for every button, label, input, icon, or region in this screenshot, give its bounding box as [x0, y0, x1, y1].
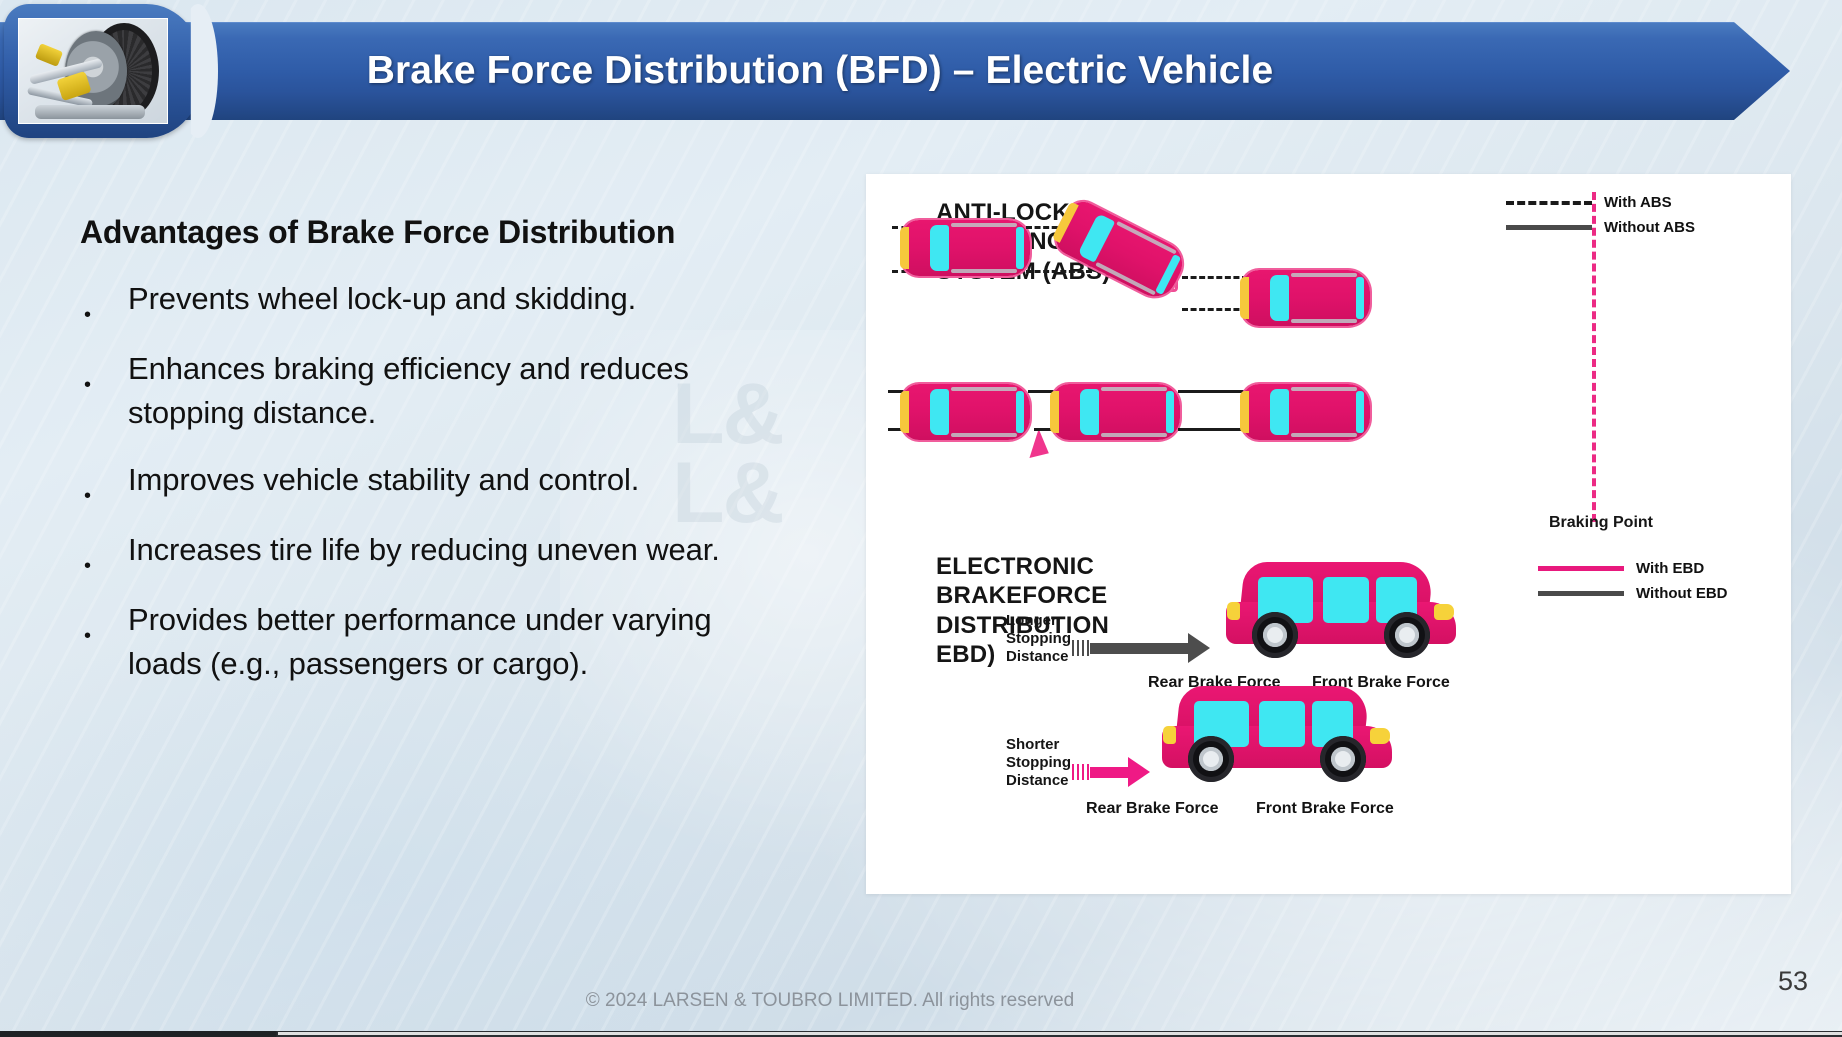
car-nose — [900, 391, 909, 434]
list-item-label: Increases tire life by reducing uneven w… — [128, 528, 720, 576]
car-roof-line — [1101, 433, 1168, 437]
legend-item: With EBD — [1538, 556, 1728, 581]
distance-line-3: Distance — [1006, 648, 1071, 666]
car-roof-line — [951, 223, 1018, 227]
abs-trace-solid — [1178, 428, 1246, 431]
car-windshield — [1270, 389, 1289, 435]
legend-item: Without EBD — [1538, 581, 1728, 606]
car-windshield — [930, 389, 949, 435]
distance-line-1: Shorter — [1006, 736, 1071, 754]
car-roof-line — [1101, 387, 1168, 391]
braking-point-label: Braking Point — [1506, 514, 1696, 532]
car-windshield — [930, 225, 949, 271]
car-body — [902, 384, 1030, 440]
car-with-abs-2 — [1050, 196, 1189, 304]
car-without-abs-3 — [1242, 384, 1370, 440]
brake-caliper-upper-icon — [35, 43, 63, 67]
car-rear-window — [1016, 227, 1024, 268]
copyright-footer: © 2024 LARSEN & TOUBRO LIMITED. All righ… — [0, 990, 1660, 1012]
car-roof-line — [1291, 433, 1358, 437]
arrow-shaft — [1090, 767, 1128, 778]
hub-base-icon — [35, 105, 145, 119]
bullet-dot-icon: • — [80, 347, 128, 436]
advantages-heading: Advantages of Brake Force Distribution — [80, 214, 780, 251]
arrow-hatch — [1072, 640, 1090, 656]
car-with-abs-1 — [902, 220, 1030, 276]
distance-line-2: Stopping — [1006, 754, 1071, 772]
slide-title-banner: Brake Force Distribution (BFD) – Electri… — [0, 22, 1790, 120]
car-body — [1052, 384, 1180, 440]
list-item-label: Prevents wheel lock-up and skidding. — [128, 277, 636, 325]
abs-trace-dashed — [1182, 276, 1248, 279]
bullet-dot-icon: • — [80, 598, 128, 687]
abs-trace-dashed — [1026, 270, 1092, 273]
arrow-hatch — [1072, 764, 1090, 780]
van-without-ebd — [1226, 562, 1456, 658]
van-rear-wheel — [1252, 612, 1298, 658]
arrow-head — [1188, 633, 1210, 663]
arrow-shaft — [1090, 643, 1188, 654]
longer-distance-arrow-icon — [1072, 640, 1210, 656]
shorter-stopping-distance-label: Shorter Stopping Distance — [1006, 736, 1071, 790]
car-roof-line — [1291, 273, 1358, 277]
van-mid-window — [1323, 577, 1369, 623]
van-taillight — [1227, 602, 1240, 620]
ebd-title-line-1: ELECTRONIC — [936, 552, 1109, 581]
longer-stopping-distance-label: Longer Stopping Distance — [1006, 612, 1071, 666]
bullet-dot-icon: • — [80, 277, 128, 325]
legend-item-label: With ABS — [1604, 194, 1672, 211]
car-without-abs-1 — [902, 384, 1030, 440]
ebd-title-line-2: BRAKEFORCE — [936, 581, 1109, 610]
skid-mark-icon — [1023, 428, 1049, 458]
car-rear-window — [1016, 391, 1024, 432]
footer-rule-highlight — [278, 1032, 1842, 1035]
car-roof-line — [1291, 387, 1358, 391]
van-with-ebd — [1162, 686, 1392, 782]
page-title: Brake Force Distribution (BFD) – Electri… — [0, 22, 1640, 120]
abs-legend: With ABS Without ABS — [1506, 190, 1695, 240]
car-body — [1242, 384, 1370, 440]
brake-assembly-photo — [18, 18, 168, 124]
list-item: • Increases tire life by reducing uneven… — [80, 528, 780, 576]
distance-line-1: Longer — [1006, 612, 1071, 630]
abs-trace-solid — [1178, 390, 1246, 393]
shorter-distance-arrow-icon — [1072, 764, 1150, 780]
front-brake-force-label: Front Brake Force — [1256, 800, 1394, 818]
van-front-wheel — [1384, 612, 1430, 658]
brake-systems-diagram: ANTI-LOCK BREAKING SYSTEM (ABS) With ABS… — [866, 174, 1791, 894]
pink-line-swatch — [1538, 566, 1624, 571]
car-nose — [1050, 391, 1059, 434]
car-nose — [900, 227, 909, 270]
van-mid-window — [1259, 701, 1305, 747]
page-number: 53 — [1778, 966, 1808, 997]
distance-line-3: Distance — [1006, 772, 1071, 790]
list-item-label: Provides better performance under varyin… — [128, 598, 780, 687]
abs-trace-dashed — [1182, 308, 1248, 311]
legend-item: Without ABS — [1506, 215, 1695, 240]
car-rear-window — [1356, 391, 1364, 432]
car-roof-line — [951, 433, 1018, 437]
car-body — [902, 220, 1030, 276]
solid-line-swatch — [1506, 225, 1592, 230]
arrow-head — [1128, 757, 1150, 787]
list-item-label: Improves vehicle stability and control. — [128, 458, 639, 506]
rear-brake-force-label: Rear Brake Force — [1086, 800, 1219, 818]
bullet-dot-icon: • — [80, 458, 128, 506]
legend-item-label: With EBD — [1636, 560, 1704, 577]
car-windshield — [1270, 275, 1289, 321]
car-with-abs-3 — [1242, 270, 1370, 326]
car-rear-window — [1356, 277, 1364, 318]
car-rear-window — [1166, 391, 1174, 432]
van-rear-wheel — [1188, 736, 1234, 782]
van-taillight — [1163, 726, 1176, 744]
car-nose — [1240, 277, 1249, 320]
car-roof-line — [951, 387, 1018, 391]
list-item: • Enhances braking efficiency and reduce… — [80, 347, 780, 436]
dashed-line-swatch — [1506, 201, 1592, 205]
van-front-wheel — [1320, 736, 1366, 782]
banner-badge — [4, 4, 204, 138]
braking-point-line — [1592, 192, 1596, 522]
legend-item-label: Without ABS — [1604, 219, 1695, 236]
list-item: • Prevents wheel lock-up and skidding. — [80, 277, 780, 325]
distance-line-2: Stopping — [1006, 630, 1071, 648]
solid-line-swatch — [1538, 591, 1624, 596]
bullet-dot-icon: • — [80, 528, 128, 576]
car-nose — [1240, 391, 1249, 434]
car-without-abs-2 — [1052, 384, 1180, 440]
legend-item: With ABS — [1506, 190, 1695, 215]
car-roof-line — [1291, 319, 1358, 323]
car-roof-line — [951, 269, 1018, 273]
van-headlight — [1434, 604, 1454, 620]
van-headlight — [1370, 728, 1390, 744]
legend-item-label: Without EBD — [1636, 585, 1728, 602]
car-windshield — [1080, 389, 1099, 435]
list-item-label: Enhances braking efficiency and reduces … — [128, 347, 780, 436]
advantages-section: Advantages of Brake Force Distribution •… — [80, 214, 780, 708]
ebd-legend: With EBD Without EBD — [1538, 556, 1728, 606]
list-item: • Improves vehicle stability and control… — [80, 458, 780, 506]
list-item: • Provides better performance under vary… — [80, 598, 780, 687]
car-body — [1242, 270, 1370, 326]
